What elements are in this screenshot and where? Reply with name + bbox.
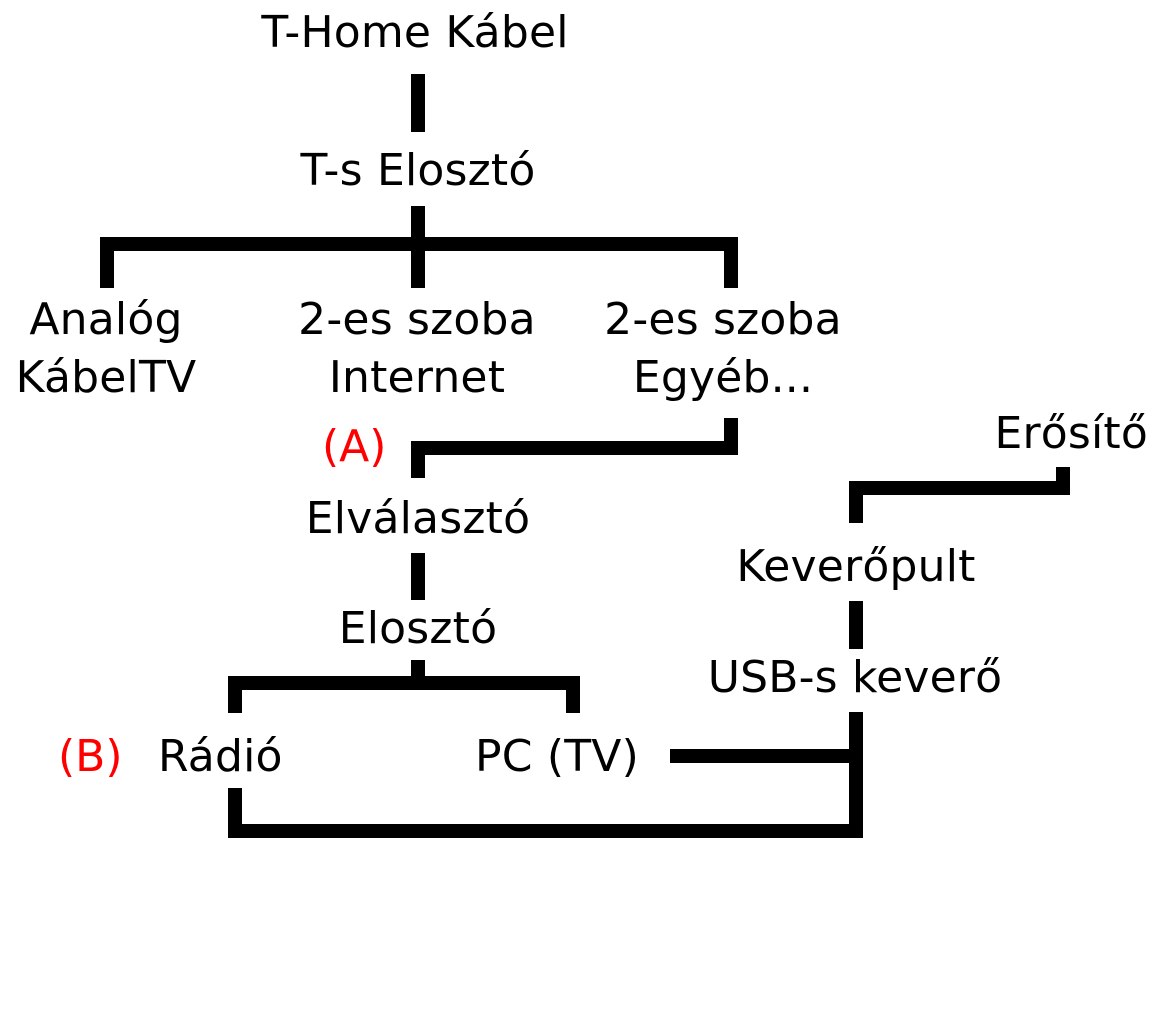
connector-other-to-separator [411,441,738,455]
connector-source-to-tsplitter [411,74,425,132]
connector-bottom-loop-to-radio [228,788,242,838]
node-room2-other-line1: 2-es szoba [604,294,842,345]
connector-separator-to-splitter [411,553,425,600]
node-radio: Rádió [158,728,283,786]
connector-drop-pc [566,676,580,713]
node-room2-internet: 2-es szoba Internet [272,291,562,407]
node-room2-internet-line1: 2-es szoba [298,294,536,345]
node-splitter: Elosztó [238,600,598,658]
cable-wiring-diagram: T-Home Kábel T-s Elosztó Analóg KábelTV … [0,0,1167,1024]
node-room2-other: 2-es szoba Egyéb... [578,291,868,407]
node-room2-other-line2: Egyéb... [578,349,868,407]
marker-b: (B) [58,728,123,786]
connector-amplifier-to-mixerdesk [849,481,1070,495]
connector-usbmixer-vertical [849,712,863,838]
node-room2-internet-line2: Internet [272,349,562,407]
node-analog-cabletv-line2: KábelTV [0,349,212,407]
marker-a: (A) [322,418,386,476]
node-analog-cabletv: Analóg KábelTV [0,291,212,407]
node-separator: Elválasztó [238,490,598,548]
node-source: T-Home Kábel [215,4,615,62]
node-mixer-desk: Keverőpult [700,538,1012,596]
connector-bus-horizontal [100,237,738,251]
connector-drop-other [724,237,738,288]
connector-mixerdesk-stub [849,481,863,523]
connector-drop-radio [228,676,242,713]
node-t-splitter: T-s Elosztó [218,142,618,200]
connector-drop-analog [100,237,114,288]
node-usb-mixer: USB-s keverő [680,649,1030,707]
connector-separator-stub [411,441,425,478]
node-pc-tv: PC (TV) [475,728,639,786]
connector-pc-to-usbmixer [670,749,863,763]
node-amplifier: Erősítő [780,405,1148,463]
connector-splitter-bus [228,676,580,690]
connector-bottom-loop-horizontal [228,824,863,838]
node-analog-cabletv-line1: Analóg [29,294,182,345]
connector-mixerdesk-to-usbmixer [849,601,863,649]
